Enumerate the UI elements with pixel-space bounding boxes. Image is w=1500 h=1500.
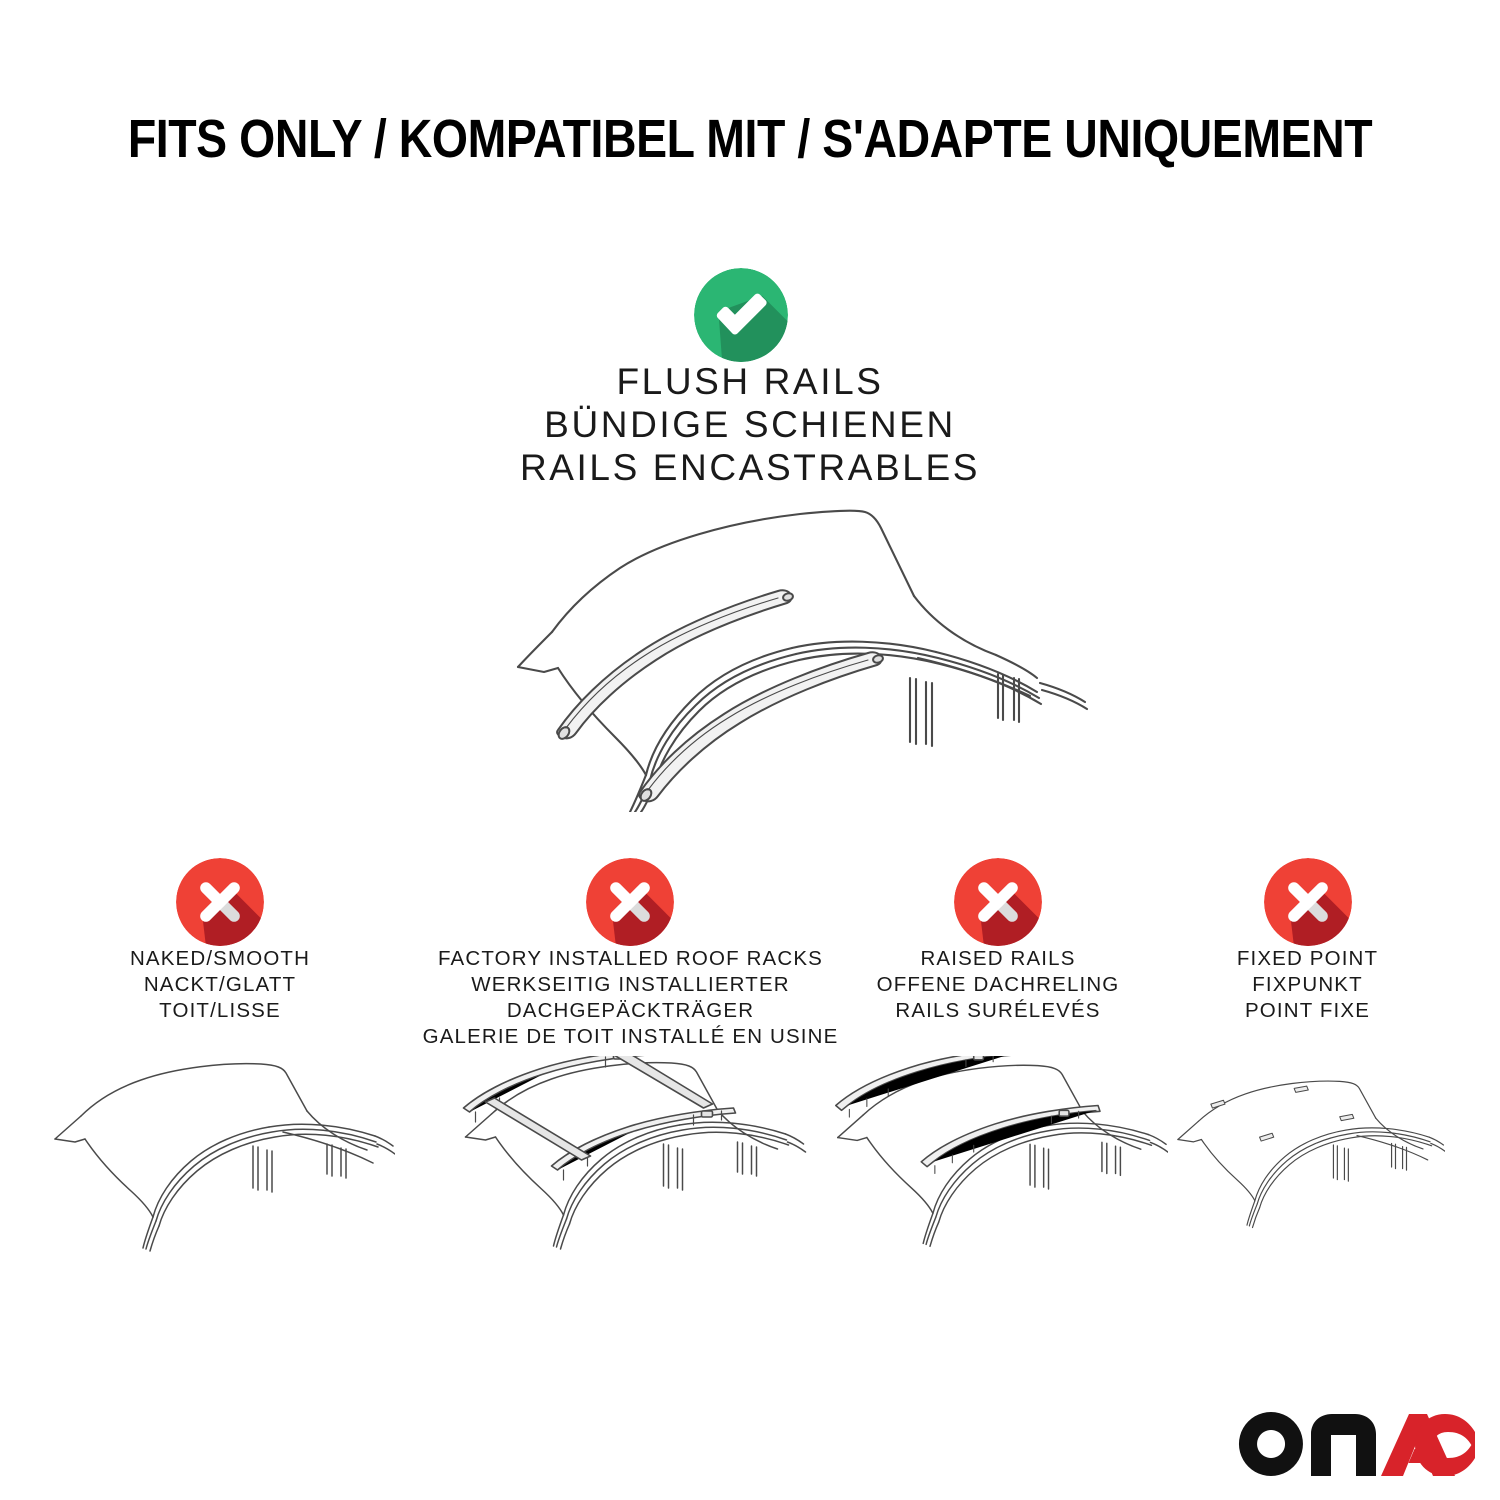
- label-line-en: RAISED RAILS: [828, 946, 1168, 972]
- compatible-label-fr: RAILS ENCASTRABLES: [0, 446, 1500, 489]
- car-roof-with-raised-rails-illustration: [828, 1056, 1168, 1256]
- label-line-fr: TOIT/LISSE: [45, 998, 395, 1024]
- car-roof-with-flush-rails-illustration: [440, 492, 1090, 812]
- label-line-de: NACKT/GLATT: [45, 972, 395, 998]
- car-roof-fixed-point-illustration: [1170, 1056, 1445, 1256]
- compatible-label-de: BÜNDIGE SCHIENEN: [0, 403, 1500, 446]
- label-line-en: NAKED/SMOOTH: [45, 946, 395, 972]
- red-x-circle-icon: [176, 858, 264, 946]
- incompatible-label-group: FIXED POINT FIXPUNKT POINT FIXE: [1170, 946, 1445, 1024]
- green-check-circle-icon: [694, 268, 788, 362]
- page-title: FITS ONLY / KOMPATIBEL MIT / S'ADAPTE UN…: [105, 108, 1395, 170]
- incompatible-options-row: NAKED/SMOOTH NACKT/GLATT TOIT/LISSE: [0, 850, 1500, 1330]
- logo-letter-c: [1415, 1414, 1475, 1476]
- red-x-circle-icon: [586, 858, 674, 946]
- label-line-de-1: WERKSEITIG INSTALLIERTER: [398, 972, 863, 998]
- label-line-de: OFFENE DACHRELING: [828, 972, 1168, 998]
- logo-letter-o: [1239, 1412, 1303, 1476]
- red-x-circle-icon: [954, 858, 1042, 946]
- red-x-circle-icon: [1264, 858, 1352, 946]
- incompatible-label-group: NAKED/SMOOTH NACKT/GLATT TOIT/LISSE: [45, 946, 395, 1024]
- logo-letter-m: [1311, 1414, 1376, 1476]
- label-line-de-2: DACHGEPÄCKTRÄGER: [398, 998, 863, 1024]
- compatible-label-en: FLUSH RAILS: [0, 360, 1500, 403]
- fitment-compatibility-infographic: FITS ONLY / KOMPATIBEL MIT / S'ADAPTE UN…: [0, 0, 1500, 1500]
- compatible-label-group: FLUSH RAILS BÜNDIGE SCHIENEN RAILS ENCAS…: [0, 360, 1500, 489]
- label-line-fr: RAILS SURÉLEVÉS: [828, 998, 1168, 1024]
- label-line-en: FACTORY INSTALLED ROOF RACKS: [398, 946, 863, 972]
- label-line-fr: POINT FIXE: [1170, 998, 1445, 1024]
- omac-logo: [1235, 1408, 1475, 1484]
- car-roof-bare-illustration: [45, 1056, 395, 1256]
- label-line-de: FIXPUNKT: [1170, 972, 1445, 998]
- car-roof-with-crossbars-illustration: [398, 1056, 863, 1256]
- label-line-fr: GALERIE DE TOIT INSTALLÉ EN USINE: [398, 1024, 863, 1050]
- incompatible-label-group: FACTORY INSTALLED ROOF RACKS WERKSEITIG …: [398, 946, 863, 1050]
- incompatible-label-group: RAISED RAILS OFFENE DACHRELING RAILS SUR…: [828, 946, 1168, 1024]
- label-line-en: FIXED POINT: [1170, 946, 1445, 972]
